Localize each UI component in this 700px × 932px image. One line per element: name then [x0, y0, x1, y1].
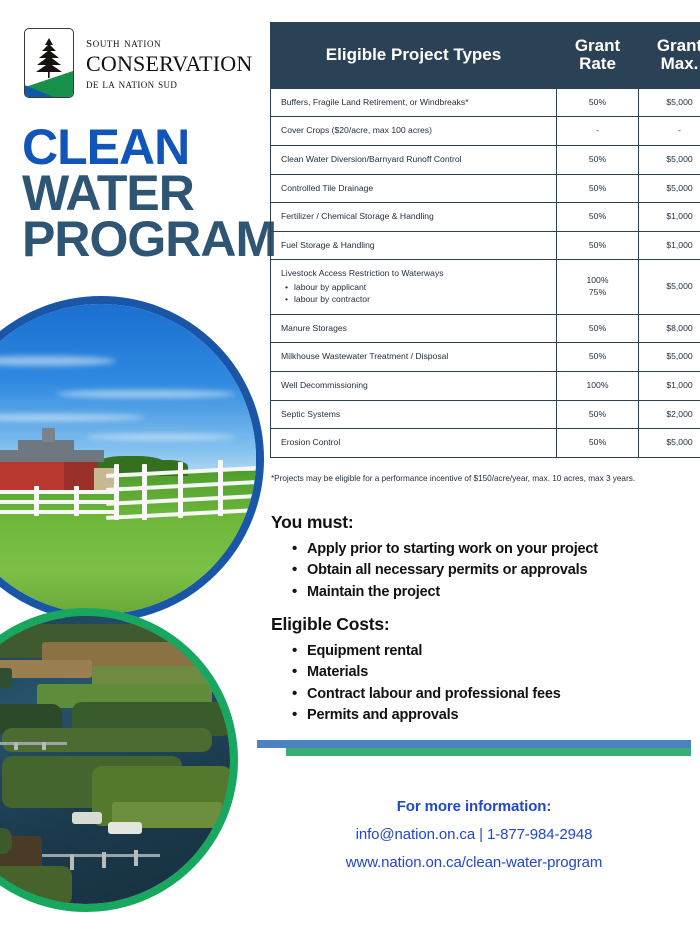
- eligible-costs-list: Equipment rentalMaterialsContract labour…: [271, 641, 681, 727]
- section-you-must: You must: Apply prior to starting work o…: [271, 512, 681, 603]
- table-row: Well Decommissioning100%$1,000: [271, 371, 700, 400]
- table-row: Livestock Access Restriction to Waterway…: [271, 260, 700, 315]
- field-patch: [0, 660, 92, 678]
- fence-post: [74, 486, 79, 516]
- fence-rail: [0, 510, 116, 514]
- project-type-label: Erosion Control: [281, 437, 546, 449]
- grant-rate-value: 50%: [589, 97, 606, 107]
- farm-photo-content: [0, 304, 256, 614]
- cell-grant-rate: 50%: [557, 314, 639, 343]
- eligible-cost-item: Equipment rental: [307, 641, 681, 662]
- forest-band: [0, 866, 72, 906]
- project-type-label: Well Decommissioning: [281, 380, 546, 392]
- column-header-project-types: Eligible Project Types: [271, 23, 557, 89]
- fence-post: [142, 464, 147, 520]
- decorative-bar-green: [286, 748, 691, 756]
- table-body: Buffers, Fragile Land Retirement, or Win…: [271, 88, 700, 457]
- cell-grant-max: $8,000: [639, 314, 700, 343]
- cell-project-type: Buffers, Fragile Land Retirement, or Win…: [271, 88, 557, 117]
- section-heading-eligible-costs: Eligible Costs:: [271, 614, 681, 635]
- field-patch: [0, 668, 12, 688]
- fence-post: [114, 464, 119, 520]
- forest-band: [2, 728, 212, 752]
- cell-grant-max: $5,000: [639, 145, 700, 174]
- cell-grant-rate: 50%: [557, 174, 639, 203]
- table-row: Controlled Tile Drainage50%$5,000: [271, 174, 700, 203]
- cell-project-type: Manure Storages: [271, 314, 557, 343]
- requirement-item: Apply prior to starting work on your pro…: [307, 539, 681, 560]
- project-type-label: Fuel Storage & Handling: [281, 240, 546, 252]
- pine-tree-icon: [34, 34, 64, 80]
- building: [108, 822, 142, 834]
- organization-logo: South Nation CONSERVATION de la Nation S…: [24, 27, 244, 99]
- bridge-pier: [102, 852, 106, 868]
- cell-grant-max: $1,000: [639, 371, 700, 400]
- grant-rate-value: 100%: [587, 380, 609, 390]
- project-type-sublist: labour by applicantlabour by contractor: [281, 281, 546, 306]
- cell-grant-rate: 50%: [557, 145, 639, 174]
- fence-post: [218, 460, 223, 516]
- requirement-item: Maintain the project: [307, 582, 681, 603]
- cell-project-type: Well Decommissioning: [271, 371, 557, 400]
- grant-max-line2: Max.: [661, 54, 699, 73]
- project-type-subitem: labour by contractor: [294, 293, 546, 305]
- grant-rate-value: 50%: [589, 351, 606, 361]
- conservation-crest-icon: [24, 28, 74, 98]
- grant-rate-value: 50%: [589, 323, 606, 333]
- grant-max-line1: Grant: [657, 36, 700, 55]
- table-row: Milkhouse Wastewater Treatment / Disposa…: [271, 343, 700, 372]
- cell-grant-max: $5,000: [639, 343, 700, 372]
- cell-project-type: Livestock Access Restriction to Waterway…: [271, 260, 557, 315]
- cell-grant-rate: 50%: [557, 203, 639, 232]
- grant-rate-value: 75%: [589, 287, 606, 297]
- project-type-label: Cover Crops ($20/acre, max 100 acres): [281, 125, 546, 137]
- cloud: [86, 434, 236, 440]
- table-row: Septic Systems50%$2,000: [271, 400, 700, 429]
- cupola: [42, 428, 55, 442]
- grant-rate-value: 50%: [589, 240, 606, 250]
- cloud: [56, 390, 236, 398]
- section-heading-you-must: You must:: [271, 512, 681, 533]
- cell-grant-max: $2,000: [639, 400, 700, 429]
- cell-project-type: Milkhouse Wastewater Treatment / Disposa…: [271, 343, 557, 372]
- project-type-label: Manure Storages: [281, 323, 546, 335]
- table-head: Eligible Project Types Grant Rate Grant …: [271, 23, 700, 89]
- cell-grant-max: $5,000: [639, 174, 700, 203]
- bridge-pier: [134, 850, 138, 866]
- photo-farm-barn-pasture: [0, 296, 264, 622]
- cell-grant-rate: 100%: [557, 371, 639, 400]
- table-row: Manure Storages50%$8,000: [271, 314, 700, 343]
- building: [72, 812, 102, 824]
- logo-wordmark: South Nation CONSERVATION de la Nation S…: [86, 36, 252, 91]
- requirement-item: Obtain all necessary permits or approval…: [307, 560, 681, 581]
- poster-page: South Nation CONSERVATION de la Nation S…: [0, 0, 700, 932]
- cell-grant-max: $1,000: [639, 203, 700, 232]
- eligible-cost-item: Permits and approvals: [307, 705, 681, 726]
- cell-grant-rate: -: [557, 117, 639, 146]
- cell-project-type: Fuel Storage & Handling: [271, 231, 557, 260]
- fence-rail: [0, 500, 116, 504]
- fence-rail: [0, 490, 116, 494]
- logo-line-2: CONSERVATION: [86, 53, 252, 75]
- cell-grant-rate: 50%: [557, 231, 639, 260]
- bridge-pier: [14, 742, 18, 750]
- table-row: Fuel Storage & Handling50%$1,000: [271, 231, 700, 260]
- table-row: Cover Crops ($20/acre, max 100 acres)--: [271, 117, 700, 146]
- fence-post: [178, 462, 183, 518]
- project-type-label: Milkhouse Wastewater Treatment / Disposa…: [281, 351, 546, 363]
- column-header-grant-max: Grant Max.: [639, 23, 700, 89]
- requirements-list: Apply prior to starting work on your pro…: [271, 539, 681, 603]
- bridge-pier: [70, 854, 74, 870]
- bridge-upper: [0, 742, 67, 745]
- grant-rate-line2: Rate: [579, 54, 616, 73]
- footer-website-link[interactable]: www.nation.on.ca/clean-water-program: [257, 854, 691, 871]
- table-row: Erosion Control50%$5,000: [271, 429, 700, 458]
- title-line-clean: CLEAN: [22, 124, 276, 170]
- logo-line-1: South Nation: [86, 36, 252, 51]
- page-title: CLEAN WATER PROGRAM: [22, 124, 276, 262]
- footer-email-phone[interactable]: info@nation.on.ca | 1-877-984-2948: [257, 826, 691, 843]
- grant-rate-value: 100%: [587, 275, 609, 285]
- footer-heading: For more information:: [257, 798, 691, 815]
- cell-grant-rate: 100%75%: [557, 260, 639, 315]
- grant-rate-value: -: [596, 125, 599, 135]
- cell-grant-max: $5,000: [639, 88, 700, 117]
- title-line-water: WATER: [22, 170, 276, 216]
- grant-rate-value: 50%: [589, 409, 606, 419]
- eligible-cost-item: Contract labour and professional fees: [307, 684, 681, 705]
- cell-grant-rate: 50%: [557, 343, 639, 372]
- photo-river-aerial: [0, 608, 238, 912]
- grant-rate-value: 50%: [589, 183, 606, 193]
- fence-post: [34, 486, 39, 516]
- project-type-label: Controlled Tile Drainage: [281, 183, 546, 195]
- title-line-program: PROGRAM: [22, 216, 276, 262]
- footer-contact: For more information: info@nation.on.ca …: [257, 798, 691, 871]
- cell-project-type: Clean Water Diversion/Barnyard Runoff Co…: [271, 145, 557, 174]
- cell-grant-rate: 50%: [557, 88, 639, 117]
- cell-grant-rate: 50%: [557, 400, 639, 429]
- cell-grant-max: $5,000: [639, 429, 700, 458]
- eligible-projects-table: Eligible Project Types Grant Rate Grant …: [270, 22, 700, 458]
- logo-line-3: de la Nation Sud: [86, 78, 252, 91]
- barn-wing: [64, 462, 98, 492]
- project-type-label: Livestock Access Restriction to Waterway…: [281, 268, 546, 280]
- table-row: Buffers, Fragile Land Retirement, or Win…: [271, 88, 700, 117]
- project-type-label: Septic Systems: [281, 409, 546, 421]
- table-row: Clean Water Diversion/Barnyard Runoff Co…: [271, 145, 700, 174]
- grant-rate-value: 50%: [589, 437, 606, 447]
- column-header-grant-rate: Grant Rate: [557, 23, 639, 89]
- cell-grant-max: $1,000: [639, 231, 700, 260]
- cell-project-type: Controlled Tile Drainage: [271, 174, 557, 203]
- cell-grant-max: -: [639, 117, 700, 146]
- bridge-pier: [42, 742, 46, 750]
- cell-project-type: Cover Crops ($20/acre, max 100 acres): [271, 117, 557, 146]
- cell-grant-rate: 50%: [557, 429, 639, 458]
- project-type-label: Buffers, Fragile Land Retirement, or Win…: [281, 97, 546, 109]
- project-type-label: Fertilizer / Chemical Storage & Handling: [281, 211, 546, 223]
- section-eligible-costs: Eligible Costs: Equipment rentalMaterial…: [271, 614, 681, 727]
- river-photo-content: [0, 616, 230, 904]
- cell-project-type: Fertilizer / Chemical Storage & Handling: [271, 203, 557, 232]
- table-footnote: *Projects may be eligible for a performa…: [271, 473, 671, 485]
- decorative-bar-blue: [257, 740, 691, 748]
- table-row: Fertilizer / Chemical Storage & Handling…: [271, 203, 700, 232]
- table-header-row: Eligible Project Types Grant Rate Grant …: [271, 23, 700, 89]
- cell-project-type: Erosion Control: [271, 429, 557, 458]
- cell-project-type: Septic Systems: [271, 400, 557, 429]
- project-type-subitem: labour by applicant: [294, 281, 546, 293]
- barn-roof-peak: [18, 440, 74, 454]
- grant-rate-line1: Grant: [575, 36, 620, 55]
- grant-rate-value: 50%: [589, 154, 606, 164]
- project-type-label: Clean Water Diversion/Barnyard Runoff Co…: [281, 154, 546, 166]
- grant-rate-value: 50%: [589, 211, 606, 221]
- eligible-cost-item: Materials: [307, 662, 681, 683]
- cell-grant-max: $5,000: [639, 260, 700, 315]
